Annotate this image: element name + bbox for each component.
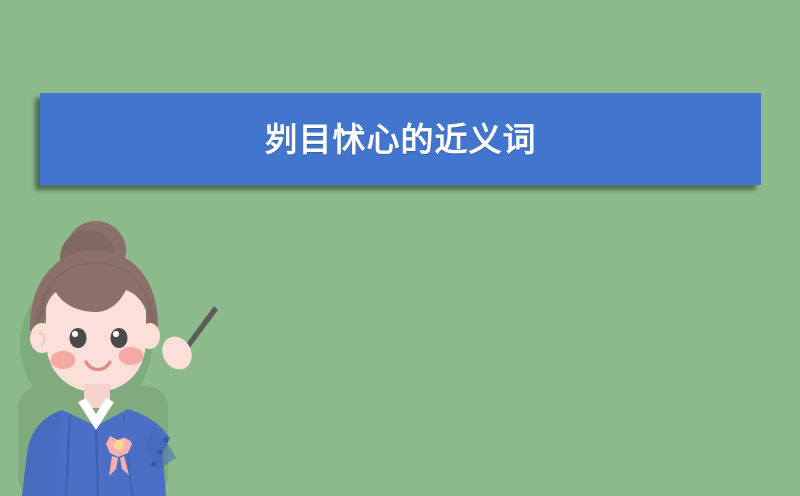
page-title: 刿目怵心的近义词	[265, 123, 537, 156]
title-banner: 刿目怵心的近义词	[40, 93, 761, 185]
left-cheek	[51, 351, 76, 369]
cuff-button	[157, 449, 162, 454]
slide-canvas: 刿目怵心的近义词	[0, 0, 800, 496]
left-eye	[70, 328, 87, 348]
right-cheek	[119, 347, 144, 365]
cuff-button	[163, 437, 168, 442]
cuff-button	[151, 461, 156, 466]
teacher-illustration	[0, 214, 260, 496]
right-eye	[111, 328, 128, 348]
